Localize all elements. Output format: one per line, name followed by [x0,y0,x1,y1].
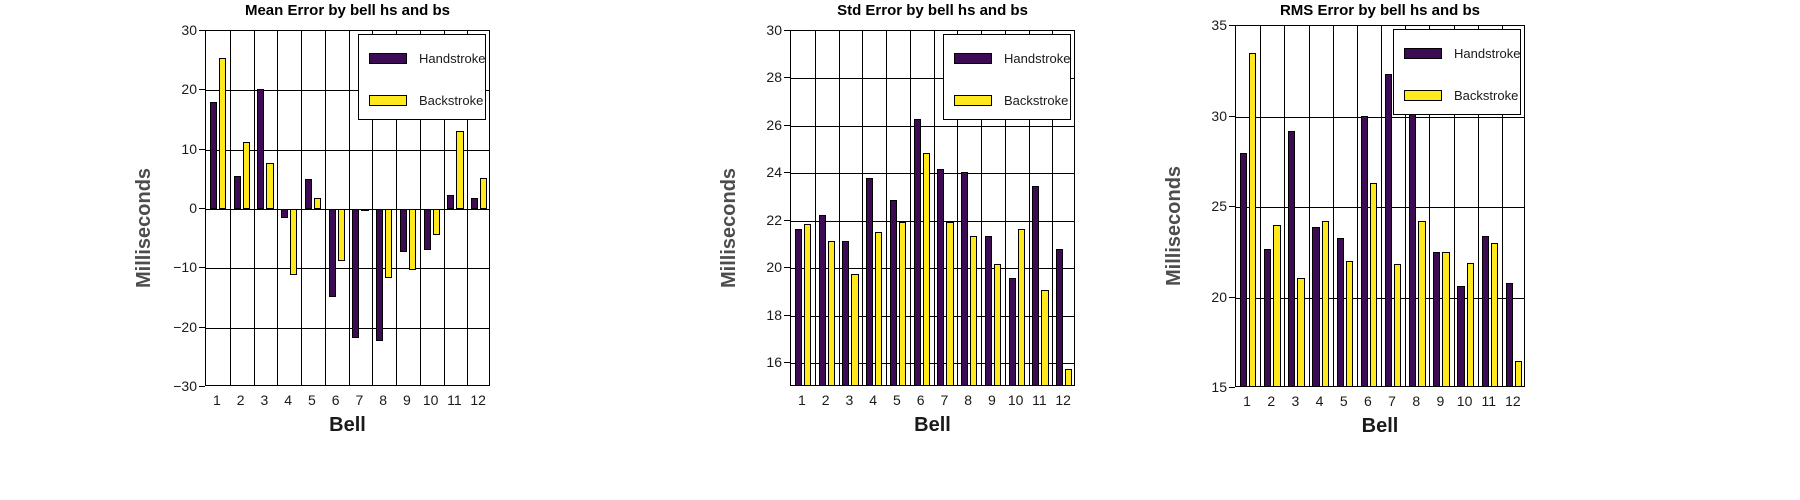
x-axis-tick-label: 10 [1008,392,1024,408]
legend-item-handstroke[interactable]: Handstroke [1404,46,1520,61]
gridline-vertical [1284,26,1285,386]
x-axis-label: Bell [1235,415,1525,438]
legend-label-backstroke: Backstroke [419,93,483,108]
gridline-horizontal [791,126,1074,127]
x-axis-tick-label: 4 [284,392,292,408]
bar-backstroke [1041,290,1048,386]
bar-backstroke [338,209,345,261]
bar-backstroke [1418,221,1425,387]
bar-handstroke [961,172,968,386]
y-axis-tick-label: 30 [1187,108,1227,124]
bar-handstroke [257,89,264,209]
bar-handstroke [376,209,383,341]
bar-handstroke [866,178,873,386]
gridline-horizontal [206,328,489,329]
x-axis-tick-label: 2 [1267,393,1275,409]
bar-backstroke [851,274,858,386]
x-axis-tick-label: 7 [1388,393,1396,409]
y-axis-tick-label: −20 [157,319,197,335]
y-axis-tick-label: 30 [742,22,782,38]
gridline-vertical [325,31,326,385]
y-axis-tick-label: 24 [742,164,782,180]
bar-backstroke [385,209,392,278]
legend-item-backstroke[interactable]: Backstroke [1404,88,1518,103]
bar-handstroke [1433,252,1440,387]
y-axis-tick-label: 10 [157,141,197,157]
x-axis-tick-label: 3 [845,392,853,408]
legend-swatch-backstroke [954,95,992,106]
legend-label-backstroke: Backstroke [1004,93,1068,108]
x-axis-tick-label: 5 [308,392,316,408]
y-axis-tick-mark [784,125,790,126]
y-axis-tick-mark [199,267,205,268]
legend-swatch-handstroke [369,53,407,64]
gridline-vertical [815,31,816,385]
x-axis-tick-label: 12 [1505,393,1521,409]
bar-handstroke [210,102,217,209]
bar-handstroke [819,215,826,386]
x-axis-tick-label: 8 [964,392,972,408]
chart-legend[interactable]: HandstrokeBackstroke [358,34,486,120]
x-axis-tick-label: 11 [447,392,462,408]
gridline-vertical [862,31,863,385]
gridline-horizontal [1236,207,1524,208]
bar-handstroke [795,229,802,386]
gridline-vertical [1260,26,1261,386]
legend-label-handstroke: Handstroke [419,51,485,66]
gridline-vertical [1309,26,1310,386]
bar-handstroke [1457,286,1464,387]
bar-handstroke [281,209,288,218]
y-axis-tick-mark [1229,387,1235,388]
y-axis-tick-mark [784,315,790,316]
x-axis-tick-label: 5 [1340,393,1348,409]
y-axis-tick-mark [199,89,205,90]
x-axis-tick-label: 10 [1457,393,1473,409]
bar-backstroke [1297,278,1304,387]
gridline-vertical [1333,26,1334,386]
bar-backstroke [994,264,1001,386]
y-axis-label: Milliseconds [133,168,156,288]
x-axis-tick-label: 9 [1437,393,1445,409]
y-axis-tick-label: 20 [1187,289,1227,305]
bar-handstroke [1409,69,1416,387]
y-axis-tick-label: 26 [742,117,782,133]
bar-backstroke [1370,183,1377,387]
x-axis-tick-label: 11 [1481,393,1496,409]
x-axis-tick-label: 6 [332,392,340,408]
gridline-vertical [1381,26,1382,386]
gridline-vertical [230,31,231,385]
bar-backstroke [1322,221,1329,387]
bar-handstroke [1337,238,1344,387]
y-axis-tick-label: 0 [157,200,197,216]
legend-swatch-handstroke [954,53,992,64]
y-axis-tick-label: 20 [742,259,782,275]
figure-canvas: Mean Error by bell hs and bs−30−20−10010… [0,0,1800,500]
chart-title: Mean Error by bell hs and bs [15,2,680,19]
bar-backstroke [1515,361,1522,387]
bar-handstroke [1506,283,1513,387]
y-axis-tick-label: 22 [742,212,782,228]
gridline-vertical [301,31,302,385]
chart-panel-2: Std Error by bell hs and bs1618202224262… [620,0,1100,500]
x-axis-tick-label: 7 [940,392,948,408]
y-axis-label: Milliseconds [1163,166,1186,286]
bar-handstroke [400,209,407,252]
bar-backstroke [314,198,321,209]
bar-handstroke [1385,74,1392,387]
zero-axis-line [206,209,489,210]
legend-label-handstroke: Handstroke [1004,51,1070,66]
bar-handstroke [914,119,921,386]
y-axis-tick-mark [784,267,790,268]
bar-handstroke [234,176,241,209]
gridline-vertical [349,31,350,385]
bar-backstroke [1065,369,1072,386]
bar-backstroke [946,222,953,386]
x-axis-label: Bell [205,414,490,437]
gridline-vertical [1357,26,1358,386]
x-axis-tick-label: 2 [822,392,830,408]
gridline-vertical [254,31,255,385]
gridline-horizontal [206,268,489,269]
bar-handstroke [329,209,336,297]
bar-backstroke [1018,229,1025,386]
bar-backstroke [923,153,930,386]
y-axis-tick-label: 30 [157,22,197,38]
bar-handstroke [1264,249,1271,387]
bar-handstroke [1009,278,1016,386]
x-axis-tick-label: 2 [237,392,245,408]
bar-backstroke [480,178,487,209]
x-axis-tick-label: 5 [893,392,901,408]
y-axis-tick-mark [1229,206,1235,207]
x-axis-tick-label: 9 [403,392,411,408]
y-axis-label: Milliseconds [718,168,741,288]
y-axis-tick-mark [784,362,790,363]
gridline-vertical [886,31,887,385]
bar-handstroke [471,198,478,209]
bar-handstroke [447,195,454,209]
y-axis-tick-label: 35 [1187,17,1227,33]
x-axis-tick-label: 7 [355,392,363,408]
gridline-horizontal [791,173,1074,174]
y-axis-tick-mark [1229,116,1235,117]
y-axis-tick-mark [1229,297,1235,298]
bar-handstroke [1240,153,1247,387]
bar-backstroke [828,241,835,386]
gridline-vertical [934,31,935,385]
bar-backstroke [409,209,416,270]
bar-backstroke [1394,264,1401,387]
bar-handstroke [1361,116,1368,387]
bar-backstroke [899,222,906,386]
bar-backstroke [1467,263,1474,387]
bar-handstroke [937,169,944,386]
x-axis-tick-label: 6 [917,392,925,408]
y-axis-tick-mark [784,30,790,31]
legend-item-handstroke[interactable]: Handstroke [954,51,1070,66]
y-axis-tick-mark [784,220,790,221]
y-axis-tick-mark [1229,25,1235,26]
gridline-horizontal [1236,117,1524,118]
gridline-vertical [277,31,278,385]
bar-handstroke [305,179,312,209]
bar-handstroke [842,241,849,386]
y-axis-tick-label: 28 [742,69,782,85]
bar-backstroke [1491,243,1498,387]
x-axis-tick-label: 12 [470,392,486,408]
legend-swatch-backstroke [369,95,407,106]
bar-backstroke [456,131,463,209]
bar-backstroke [290,209,297,275]
legend-swatch-handstroke [1404,48,1442,59]
x-axis-tick-label: 8 [1412,393,1420,409]
chart-panel-3: RMS Error by bell hs and bs1520253035Mil… [1100,0,1800,500]
chart-panel-1: Mean Error by bell hs and bs−30−20−10010… [0,0,620,500]
bar-handstroke [1056,249,1063,386]
x-axis-tick-label: 9 [988,392,996,408]
x-axis-tick-label: 8 [379,392,387,408]
bar-backstroke [875,232,882,386]
bar-handstroke [424,209,431,250]
gridline-vertical [839,31,840,385]
bar-backstroke [433,209,440,235]
y-axis-tick-label: −10 [157,259,197,275]
y-axis-tick-label: 25 [1187,198,1227,214]
bar-handstroke [890,200,897,387]
bar-backstroke [243,142,250,209]
x-axis-tick-label: 11 [1032,392,1047,408]
y-axis-tick-mark [199,327,205,328]
bar-backstroke [970,236,977,386]
chart-title: RMS Error by bell hs and bs [1045,2,1715,19]
bar-backstroke [1442,252,1449,387]
bar-handstroke [352,209,359,338]
bar-handstroke [1288,131,1295,387]
bar-handstroke [1312,227,1319,387]
x-axis-tick-label: 12 [1055,392,1071,408]
x-axis-tick-label: 1 [1243,393,1251,409]
y-axis-tick-label: 18 [742,307,782,323]
bar-backstroke [219,58,226,209]
y-axis-tick-label: −30 [157,378,197,394]
y-axis-tick-label: 16 [742,354,782,370]
bar-backstroke [1346,261,1353,387]
y-axis-tick-mark [199,149,205,150]
x-axis-tick-label: 10 [423,392,439,408]
x-axis-tick-label: 3 [260,392,268,408]
chart-legend[interactable]: HandstrokeBackstroke [943,34,1071,120]
x-axis-label: Bell [790,414,1075,437]
y-axis-tick-mark [199,386,205,387]
x-axis-tick-label: 1 [798,392,806,408]
y-axis-tick-label: 15 [1187,379,1227,395]
y-axis-tick-mark [199,208,205,209]
y-axis-tick-label: 20 [157,81,197,97]
x-axis-tick-label: 1 [213,392,221,408]
x-axis-tick-label: 3 [1292,393,1300,409]
chart-legend[interactable]: HandstrokeBackstroke [1393,29,1521,115]
gridline-vertical [910,31,911,385]
legend-item-handstroke[interactable]: Handstroke [369,51,485,66]
y-axis-tick-mark [784,77,790,78]
legend-item-backstroke[interactable]: Backstroke [954,93,1068,108]
x-axis-tick-label: 6 [1364,393,1372,409]
legend-item-backstroke[interactable]: Backstroke [369,93,483,108]
bar-handstroke [985,236,992,386]
y-axis-tick-mark [199,30,205,31]
bar-backstroke [1273,225,1280,387]
bar-backstroke [1249,53,1256,387]
legend-label-handstroke: Handstroke [1454,46,1520,61]
bar-handstroke [1482,236,1489,387]
legend-swatch-backstroke [1404,90,1442,101]
bar-handstroke [1032,186,1039,386]
legend-label-backstroke: Backstroke [1454,88,1518,103]
bar-backstroke [266,163,273,209]
x-axis-tick-label: 4 [869,392,877,408]
bar-backstroke [804,224,811,386]
x-axis-tick-label: 4 [1316,393,1324,409]
y-axis-tick-mark [784,172,790,173]
